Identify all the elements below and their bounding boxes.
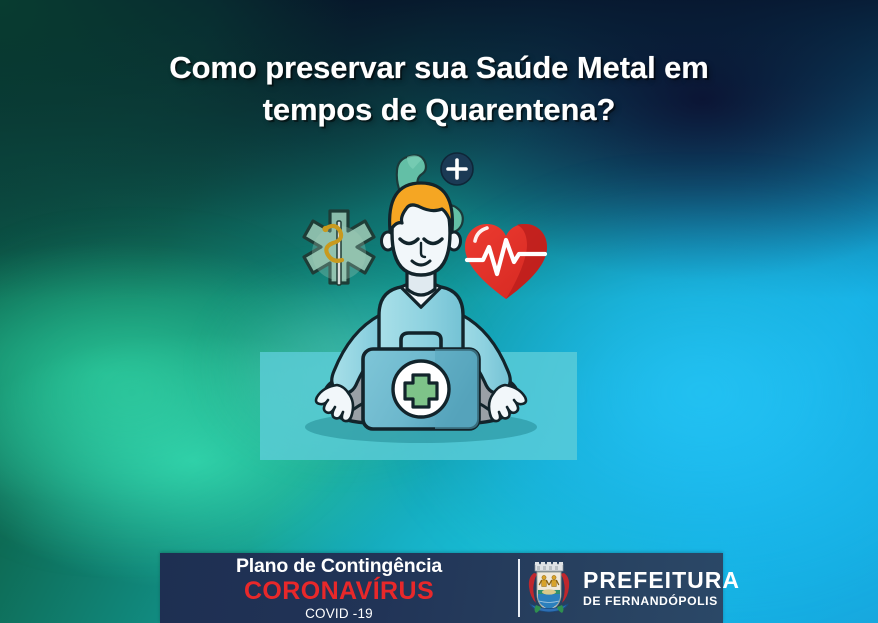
illustration-meditating-person — [255, 145, 585, 465]
footer-virus-label: CORONAVÍRUS — [244, 578, 434, 604]
footer-plano-label: Plano de Contingência — [236, 556, 442, 577]
figure-hand-right — [489, 385, 526, 421]
poster-canvas: Como preservar sua Saúde Metal em tempos… — [0, 0, 878, 623]
prefeitura-wordmark: PREFEITURA DE FERNANDÓPOLIS — [583, 569, 740, 607]
prefeitura-label: PREFEITURA — [583, 569, 740, 592]
brasao-fernandopolis-icon — [526, 561, 572, 615]
poster-title: Como preservar sua Saúde Metal em tempos… — [0, 47, 878, 131]
heart-pulse-icon — [465, 224, 547, 299]
city-label: DE FERNANDÓPOLIS — [583, 595, 740, 607]
figure-hand-left — [316, 385, 353, 421]
star-of-life-icon — [304, 211, 374, 285]
poster-title-line-2: tempos de Quarentena? — [60, 89, 818, 131]
footer-banner: Plano de Contingência CORONAVÍRUS COVID … — [160, 553, 723, 623]
poster-title-line-1: Como preservar sua Saúde Metal em — [60, 47, 818, 89]
footer-covid-label: COVID -19 — [305, 606, 373, 622]
figure-head — [382, 183, 461, 295]
footer-prefeitura-block: PREFEITURA DE FERNANDÓPOLIS — [520, 553, 740, 623]
footer-campaign-block: Plano de Contingência CORONAVÍRUS COVID … — [160, 553, 518, 623]
medical-briefcase-icon — [363, 333, 479, 429]
